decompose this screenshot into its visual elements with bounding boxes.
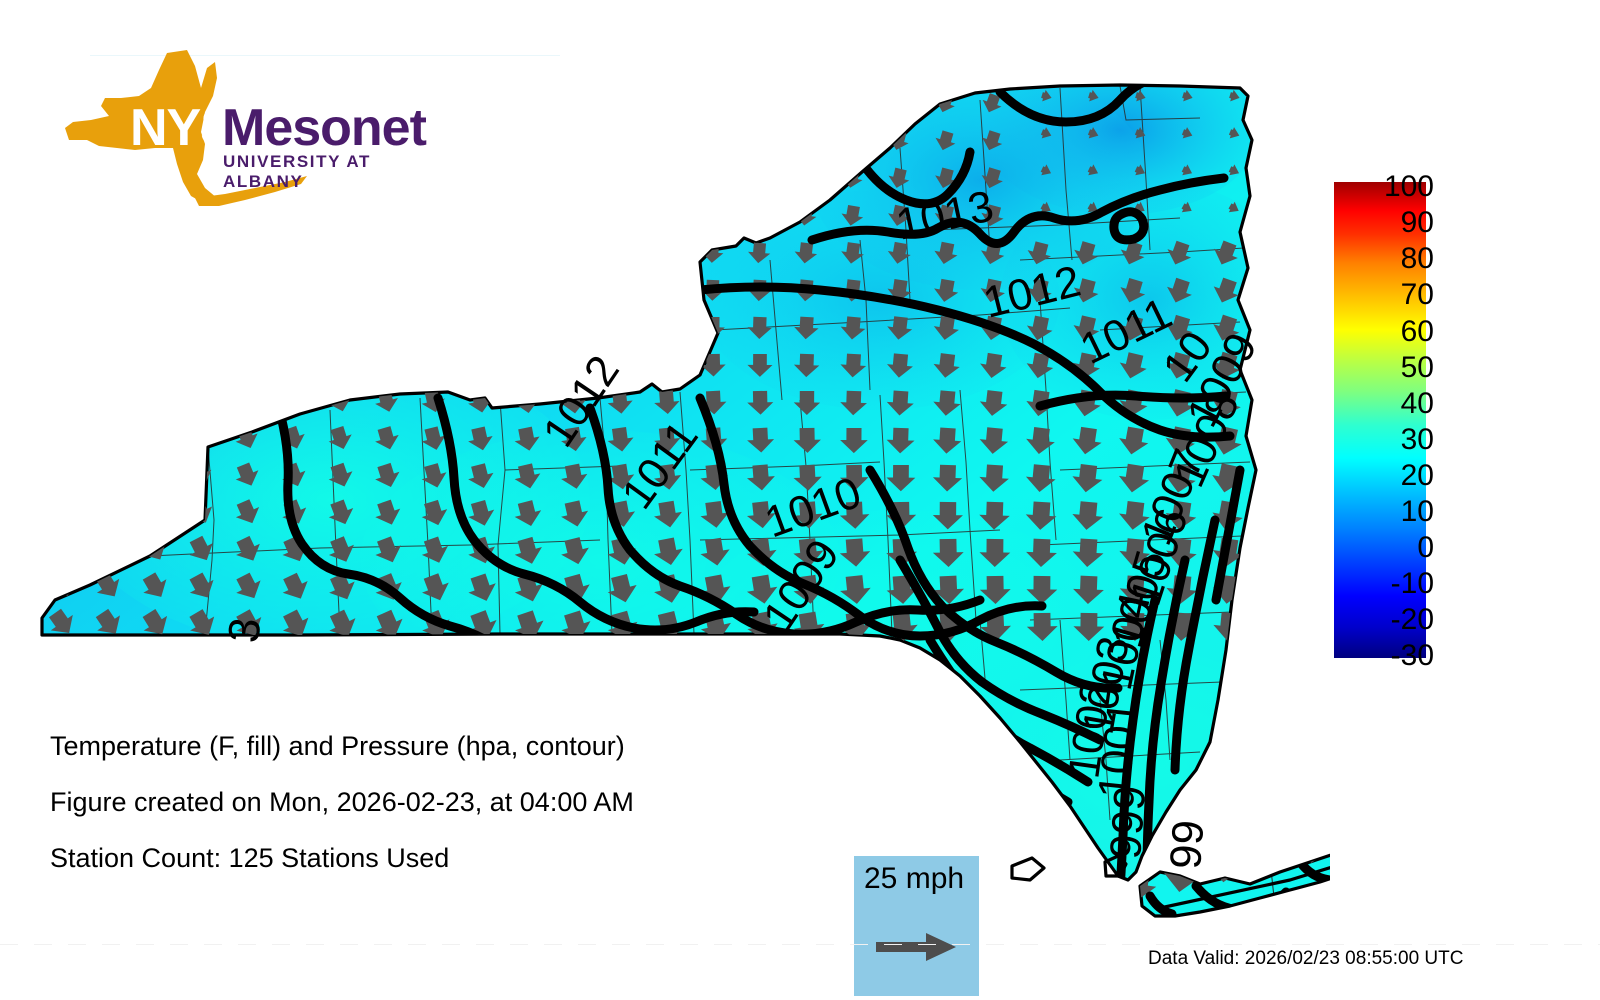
wind-arrow <box>747 168 770 189</box>
colorbar-tick: -30 <box>1391 641 1434 671</box>
wind-arrow <box>608 206 629 225</box>
wind-arrow <box>233 278 257 300</box>
wind-arrow <box>608 243 629 262</box>
wind-scale-legend: 25 mph <box>854 856 979 996</box>
wind-arrow <box>467 352 493 377</box>
wind-arrow <box>561 316 585 339</box>
logo-mesonet-text: Mesonet <box>222 98 426 158</box>
wind-arrow <box>373 315 398 338</box>
wind-arrow <box>374 242 396 263</box>
nys-mesonet-logo: NYS Mesonet UNIVERSITY AT ALBANY <box>55 48 400 208</box>
wind-arrow <box>45 459 76 489</box>
wind-arrow <box>46 313 71 337</box>
wind-arrow <box>655 280 678 301</box>
caption-station-count-line: Station Count: 125 Stations Used <box>50 830 870 886</box>
wind-arrow <box>467 279 490 301</box>
wind-arrow <box>45 386 73 413</box>
colorbar-tick: 60 <box>1401 317 1434 347</box>
wind-arrow <box>608 280 631 301</box>
contour-label: 99 <box>1161 818 1213 870</box>
wind-arrow <box>280 278 304 300</box>
wind-arrow <box>92 423 121 451</box>
wind-arrow <box>701 168 723 188</box>
wind-arrow <box>139 350 165 375</box>
wind-scale-arrow-icon <box>876 930 958 969</box>
wind-arrow <box>187 241 209 262</box>
wind-arrow <box>514 279 537 300</box>
wind-arrow <box>326 351 353 376</box>
wind-arrow <box>701 205 724 226</box>
wind-arrow <box>562 131 581 149</box>
wind-arrow <box>887 92 911 114</box>
wind-arrow <box>515 242 537 262</box>
wind-arrow <box>794 130 817 152</box>
colorbar-tick: 90 <box>1401 208 1434 238</box>
wind-arrow <box>91 496 123 527</box>
wind-arrow <box>233 314 258 338</box>
wind-arrow <box>467 315 492 338</box>
wind-arrow <box>516 95 534 111</box>
colorbar-tick: 20 <box>1401 461 1434 491</box>
colorbar-tick-labels: 100 90 80 70 60 50 40 30 20 10 0 -10 -20… <box>1432 164 1552 684</box>
contour-label: 3 <box>219 616 270 645</box>
wind-arrow <box>93 240 115 261</box>
wind-arrow <box>93 313 118 337</box>
wind-arrow <box>701 93 722 112</box>
caption-created-line: Figure created on Mon, 2026-02-23, at 04… <box>50 774 870 830</box>
figure-canvas: 1013 1012 1011 10 1009 1008 1007 1006 10… <box>0 0 1600 1000</box>
wind-arrow <box>562 94 581 111</box>
wind-arrow <box>139 423 168 451</box>
wind-arrow <box>608 168 628 187</box>
colorbar-tick: 50 <box>1401 353 1434 383</box>
wind-arrow <box>608 94 627 112</box>
wind-arrow <box>374 278 398 300</box>
wind-arrow <box>373 352 400 377</box>
colorbar-tick: -20 <box>1391 605 1434 635</box>
wind-arrow <box>514 316 539 339</box>
wind-arrow <box>420 315 445 338</box>
wind-arrow <box>515 206 535 224</box>
wind-arrow <box>234 241 256 262</box>
logo-subtitle: UNIVERSITY AT ALBANY <box>223 152 400 192</box>
wind-arrow <box>794 167 818 189</box>
figure-caption: Temperature (F, fill) and Pressure (hpa,… <box>50 718 870 886</box>
wind-arrow <box>44 532 77 565</box>
wind-arrow <box>45 496 77 527</box>
wind-arrow <box>139 387 167 414</box>
wind-arrow <box>468 242 490 262</box>
wind-arrow <box>421 279 444 301</box>
wind-arrow <box>748 93 769 113</box>
wind-arrow <box>279 351 306 376</box>
wind-arrow <box>655 243 677 263</box>
wind-arrow <box>93 277 116 299</box>
wind-arrow <box>140 314 165 338</box>
wind-scale-label: 25 mph <box>864 862 964 896</box>
wind-arrow <box>232 387 260 414</box>
wind-arrow <box>468 205 488 224</box>
caption-title-line: Temperature (F, fill) and Pressure (hpa,… <box>50 718 870 774</box>
colorbar-tick: 80 <box>1401 244 1434 274</box>
wind-arrow <box>280 314 305 338</box>
wind-arrow <box>562 169 582 187</box>
wind-arrow <box>469 169 488 186</box>
colorbar-tick: 40 <box>1401 389 1434 419</box>
wind-arrow <box>422 169 441 187</box>
colorbar-tick: 0 <box>1417 533 1434 563</box>
wind-arrow <box>45 423 74 451</box>
wind-arrow <box>140 240 162 261</box>
wind-arrow <box>840 93 863 115</box>
wind-arrow <box>421 205 441 224</box>
wind-arrow <box>186 387 214 414</box>
wind-arrow <box>138 460 169 490</box>
wind-arrow <box>608 131 628 149</box>
wind-arrow <box>186 314 211 338</box>
wind-arrow <box>327 315 352 339</box>
wind-arrow <box>561 279 584 300</box>
wind-arrow <box>92 460 123 490</box>
wind-arrow <box>701 131 722 151</box>
wind-arrow <box>138 496 170 527</box>
wind-arrow <box>607 316 631 338</box>
colorbar-tick: -10 <box>1391 569 1434 599</box>
wind-arrow <box>469 95 486 111</box>
wind-arrow <box>187 277 211 299</box>
wind-arrow <box>840 130 864 152</box>
wind-arrow <box>513 352 539 376</box>
wind-arrow <box>327 278 351 300</box>
wind-arrow <box>46 277 69 299</box>
wind-arrow <box>562 206 582 224</box>
wind-arrow <box>47 240 69 261</box>
wind-arrow <box>92 387 120 414</box>
wind-arrow <box>654 353 680 376</box>
colorbar-tick: 30 <box>1401 425 1434 455</box>
wind-arrow <box>655 94 675 113</box>
wind-arrow <box>420 352 446 377</box>
wind-arrow <box>327 241 349 262</box>
wind-arrow <box>655 131 676 150</box>
logo-nys-text: NYS <box>130 98 234 158</box>
wind-arrow <box>233 351 260 376</box>
wind-arrow <box>655 168 676 188</box>
wind-arrow <box>747 130 769 151</box>
wind-arrow <box>655 205 677 225</box>
colorbar-tick: 10 <box>1401 497 1434 527</box>
wind-arrow <box>140 277 163 299</box>
wind-arrow <box>186 350 213 375</box>
wind-arrow <box>794 93 816 114</box>
wind-arrow <box>654 317 678 339</box>
data-valid-timestamp: Data Valid: 2026/02/23 08:55:00 UTC <box>1148 948 1463 970</box>
wind-arrow <box>279 388 307 415</box>
contour-label: 999 <box>1101 784 1155 861</box>
wind-arrow <box>516 132 534 149</box>
wind-arrow <box>469 132 487 148</box>
wind-arrow <box>561 243 582 263</box>
colorbar-tick: 100 <box>1384 172 1434 202</box>
wind-arrow <box>92 350 118 375</box>
wind-arrow <box>46 350 72 375</box>
wind-arrow <box>91 533 125 566</box>
wind-arrow <box>281 241 303 262</box>
colorbar-tick: 70 <box>1401 280 1434 310</box>
wind-arrow <box>747 205 770 227</box>
bottom-faint-rule <box>0 944 1600 945</box>
wind-arrow <box>516 169 535 186</box>
wind-arrow <box>421 242 443 262</box>
